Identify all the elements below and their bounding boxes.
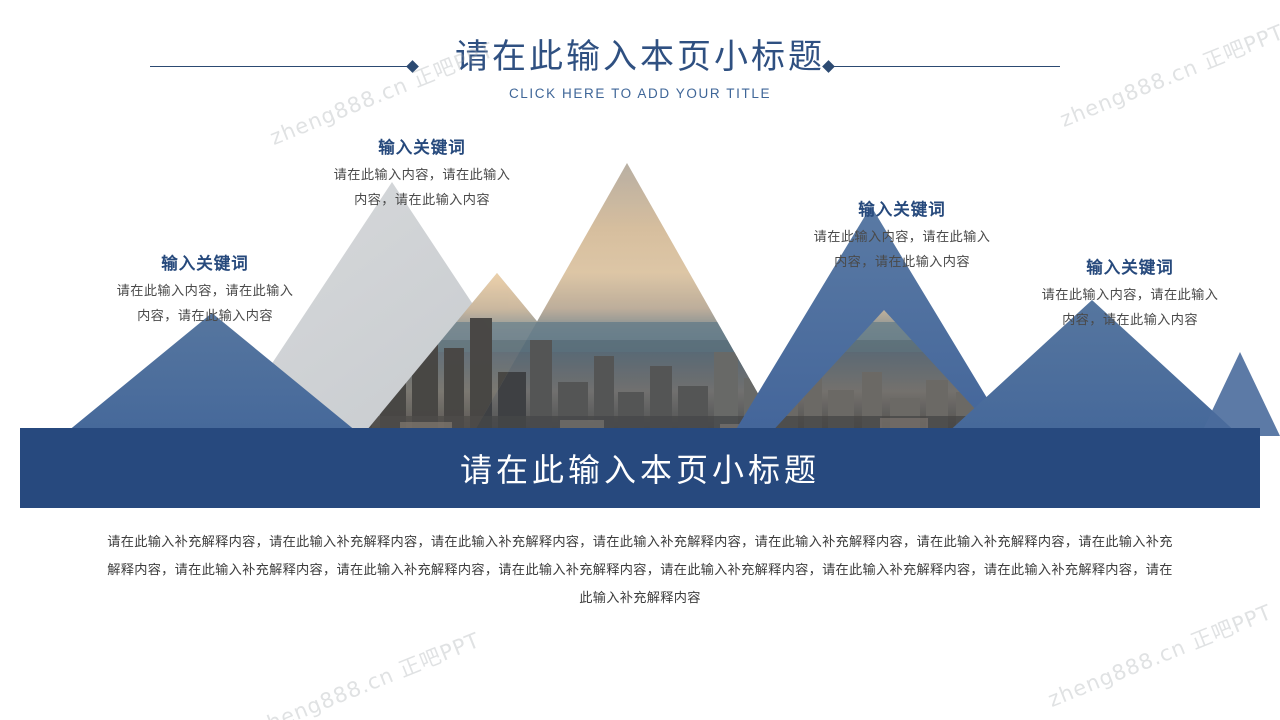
callout-desc-line-2: 内容，请在此输入内容: [354, 192, 490, 207]
callout-keyword: 输入关键词: [277, 136, 567, 160]
callout-desc-line-2: 内容，请在此输入内容: [137, 308, 273, 323]
slide-canvas: 请在此输入本页小标题 CLICK HERE TO ADD YOUR TITLE …: [0, 0, 1280, 720]
page-title: 请在此输入本页小标题: [0, 34, 1280, 80]
callout-keyword: 输入关键词: [985, 256, 1275, 280]
callout-desc-line-1: 请在此输入内容，请在此输入: [814, 229, 991, 244]
callout-description: 请在此输入内容，请在此输入 内容，请在此输入内容: [277, 162, 567, 212]
callout-block-2: 输入关键词 请在此输入内容，请在此输入 内容，请在此输入内容: [277, 136, 567, 212]
callout-keyword: 输入关键词: [757, 198, 1047, 222]
callout-keyword: 输入关键词: [60, 252, 350, 276]
footer-paragraph: 请在此输入补充解释内容，请在此输入补充解释内容，请在此输入补充解释内容，请在此输…: [105, 528, 1175, 612]
callout-desc-line-2: 内容，请在此输入内容: [834, 254, 970, 269]
callout-description: 请在此输入内容，请在此输入 内容，请在此输入内容: [60, 278, 350, 328]
slide-header: 请在此输入本页小标题 CLICK HERE TO ADD YOUR TITLE: [0, 34, 1280, 114]
callout-desc-line-1: 请在此输入内容，请在此输入: [1042, 287, 1219, 302]
banner-title: 请在此输入本页小标题: [460, 445, 820, 491]
callout-block-1: 输入关键词 请在此输入内容，请在此输入 内容，请在此输入内容: [60, 252, 350, 328]
page-subtitle: CLICK HERE TO ADD YOUR TITLE: [0, 86, 1280, 101]
banner-bar: 请在此输入本页小标题: [20, 428, 1260, 508]
callout-desc-line-1: 请在此输入内容，请在此输入: [334, 167, 511, 182]
callout-desc-line-1: 请在此输入内容，请在此输入: [117, 283, 294, 298]
callout-description: 请在此输入内容，请在此输入 内容，请在此输入内容: [985, 282, 1275, 332]
callout-block-4: 输入关键词 请在此输入内容，请在此输入 内容，请在此输入内容: [985, 256, 1275, 332]
peak-blue-edge: [1200, 352, 1280, 436]
callout-desc-line-2: 内容，请在此输入内容: [1062, 312, 1198, 327]
